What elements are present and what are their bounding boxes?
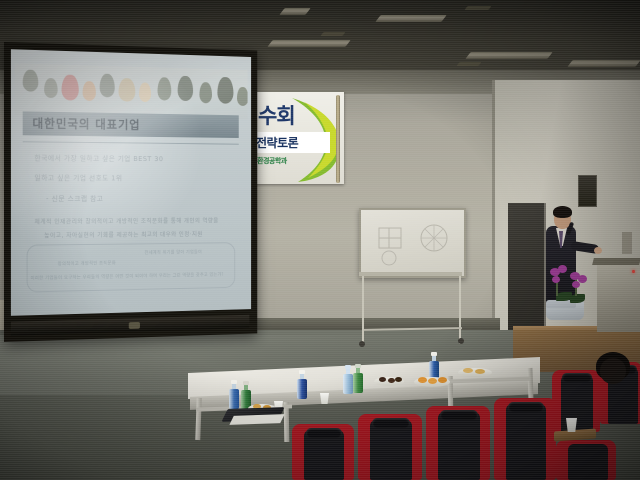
ceiling-light-fixture — [375, 15, 446, 22]
paper-cup — [566, 418, 577, 432]
snack-food — [428, 378, 437, 384]
snack-food — [379, 377, 386, 382]
banner-org-label: 환경공학과 — [257, 156, 287, 166]
slide-divider — [23, 141, 239, 144]
whiteboard-leg — [459, 276, 461, 344]
projection-surface: 대한민국의 대표기업 한국에서 가장 일하고 싶은 기업 BEST 30 일하고… — [11, 49, 251, 316]
slide-body-line: 일하고 싶은 기업 선호도 1위 — [34, 173, 122, 183]
banner-title: 수회 — [258, 100, 295, 130]
slide-callout-line: 전세계적 위기를 맞아 기업들이 — [145, 249, 202, 256]
whiteboard-sketch-icon — [373, 222, 413, 266]
ceiling-light-fixture — [267, 40, 350, 47]
snack-food — [463, 368, 473, 373]
snack-food — [388, 378, 395, 383]
seat-headrest — [306, 428, 342, 438]
slide-body-line: - 신문 스크랩 참고 — [46, 194, 103, 204]
ceiling-light-fixture — [567, 60, 640, 67]
doorway — [508, 203, 546, 333]
ceiling-light-fixture — [279, 8, 310, 15]
water-bottle — [297, 372, 307, 399]
slide-body-line: 체계적 인재관리와 창의적이고 개방적인 조직문화를 통해 개인의 역량을 — [34, 216, 218, 226]
whiteboard-diagram-icon — [413, 218, 455, 258]
seat-panel — [438, 412, 480, 480]
banner-subtitle: 전략토론 — [256, 134, 298, 151]
whiteboard-caster — [359, 341, 365, 347]
seat-panel — [568, 444, 608, 480]
seat-panel — [370, 420, 412, 480]
slide-title: 대한민국의 대표기업 — [32, 115, 140, 133]
paper-cup — [320, 393, 329, 404]
slide-body-line: 한국에서 가장 일하고 싶은 기업 BEST 30 — [34, 153, 163, 164]
orchid-flower — [552, 276, 560, 283]
ceiling-vent — [456, 62, 481, 66]
snack-food — [395, 377, 402, 382]
snack-food — [438, 377, 447, 383]
screen-pull-knob — [129, 322, 140, 329]
whiteboard-caster — [458, 338, 464, 344]
wall-banner: 수회 전략토론 환경공학과 — [252, 92, 344, 184]
whiteboard — [359, 208, 466, 278]
whiteboard-leg — [362, 276, 364, 344]
projection-screen: 대한민국의 대표기업 한국에서 가장 일하고 싶은 기업 BEST 30 일하고… — [4, 42, 257, 342]
presentation-slide: 대한민국의 대표기업 한국에서 가장 일하고 싶은 기업 BEST 30 일하고… — [11, 49, 251, 316]
photo-scene: 수회 전략토론 환경공학과 — [0, 0, 640, 480]
water-bottle — [343, 369, 353, 394]
attendee-head — [600, 358, 626, 384]
water-bottle — [229, 382, 239, 409]
ceiling-vent — [320, 32, 345, 36]
paper-sheet — [229, 414, 284, 425]
orchid-flower — [572, 281, 580, 288]
presenter-hair — [553, 206, 572, 218]
slide-callout-box — [27, 242, 236, 292]
ceiling-vent — [464, 6, 491, 10]
seat-headrest — [562, 373, 592, 382]
whiteboard-marker-tray — [359, 272, 462, 276]
ceiling-light-fixture — [465, 52, 552, 59]
wall-speaker-icon — [578, 175, 597, 207]
seat-headrest — [508, 402, 544, 412]
lectern-top — [592, 258, 640, 265]
seat-headrest — [372, 418, 410, 428]
presenter-hand — [594, 247, 602, 254]
orchid-leaf — [570, 294, 585, 303]
seat-panel — [561, 375, 593, 432]
seat-headrest — [440, 410, 478, 420]
slide-body-line: 높이고, 자아실현의 기회를 제공하는 최고의 대우와 인정·지원 — [44, 229, 203, 239]
orchid-basket — [546, 300, 584, 320]
seat-panel — [506, 404, 546, 480]
snack-food — [475, 369, 485, 374]
banner-pole — [336, 95, 340, 183]
lectern-indicator-led-icon — [632, 270, 635, 273]
orchid-flower — [558, 265, 567, 273]
snack-food — [418, 377, 427, 383]
green-bottle — [353, 371, 363, 393]
wall-panel — [622, 232, 632, 254]
slide-callout-line: 창의적이고 개방적인 조직문화 — [58, 260, 116, 267]
